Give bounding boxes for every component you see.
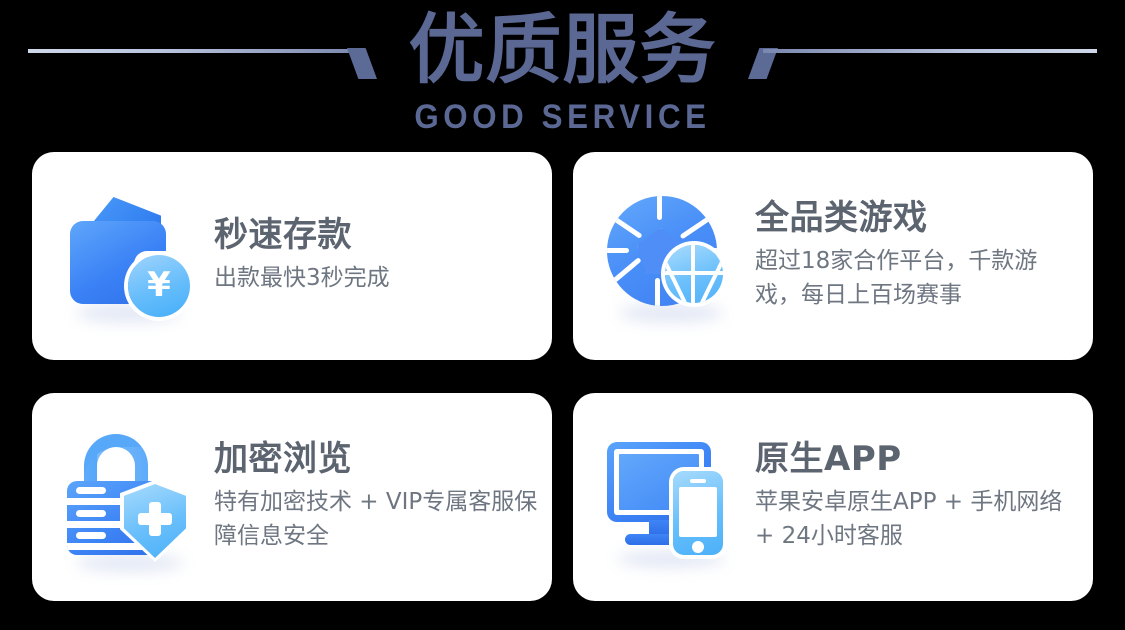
yuan-symbol: ¥: [147, 268, 171, 302]
card-title: 原生APP: [755, 438, 1081, 480]
card-description: 超过18家合作平台，千款游戏，每日上百场赛事: [755, 244, 1081, 312]
page-header: 优质服务 GOOD SERVICE: [0, 0, 1125, 150]
phone-icon: [673, 471, 723, 555]
wallet-coin-icon: ¥: [62, 183, 208, 329]
card-description: 出款最快3秒完成: [214, 261, 390, 295]
page-subtitle: GOOD SERVICE: [45, 99, 1080, 135]
card-title: 加密浏览: [214, 438, 540, 480]
card-text-block: 加密浏览 特有加密技术 + VIP专属客服保障信息安全: [208, 438, 552, 557]
card-description: 特有加密技术 + VIP专属客服保障信息安全: [214, 485, 540, 553]
feature-card-grid: ¥ 秒速存款 出款最快3秒完成: [32, 152, 1093, 601]
card-text-block: 秒速存款 出款最快3秒完成: [208, 214, 402, 299]
lock-shield-icon: [62, 424, 208, 570]
card-title: 全品类游戏: [755, 197, 1081, 239]
card-description: 苹果安卓原生APP + 手机网络 + 24小时客服: [755, 485, 1081, 553]
card-title: 秒速存款: [214, 214, 390, 256]
basketball-icon: [665, 245, 723, 303]
header-divider-right: [763, 49, 1097, 53]
card-text-block: 原生APP 苹果安卓原生APP + 手机网络 + 24小时客服: [749, 438, 1093, 557]
feature-card-encrypted-browsing[interactable]: 加密浏览 特有加密技术 + VIP专属客服保障信息安全: [32, 393, 552, 601]
feature-card-all-category-games[interactable]: 全品类游戏 超过18家合作平台，千款游戏，每日上百场赛事: [573, 152, 1093, 360]
feature-card-native-app[interactable]: 原生APP 苹果安卓原生APP + 手机网络 + 24小时客服: [573, 393, 1093, 601]
yuan-coin-icon: ¥: [128, 255, 190, 317]
monitor-phone-icon: [603, 424, 749, 570]
soccer-basketball-icon: [603, 183, 749, 329]
feature-card-instant-deposit[interactable]: ¥ 秒速存款 出款最快3秒完成: [32, 152, 552, 360]
card-text-block: 全品类游戏 超过18家合作平台，千款游戏，每日上百场赛事: [749, 197, 1093, 316]
